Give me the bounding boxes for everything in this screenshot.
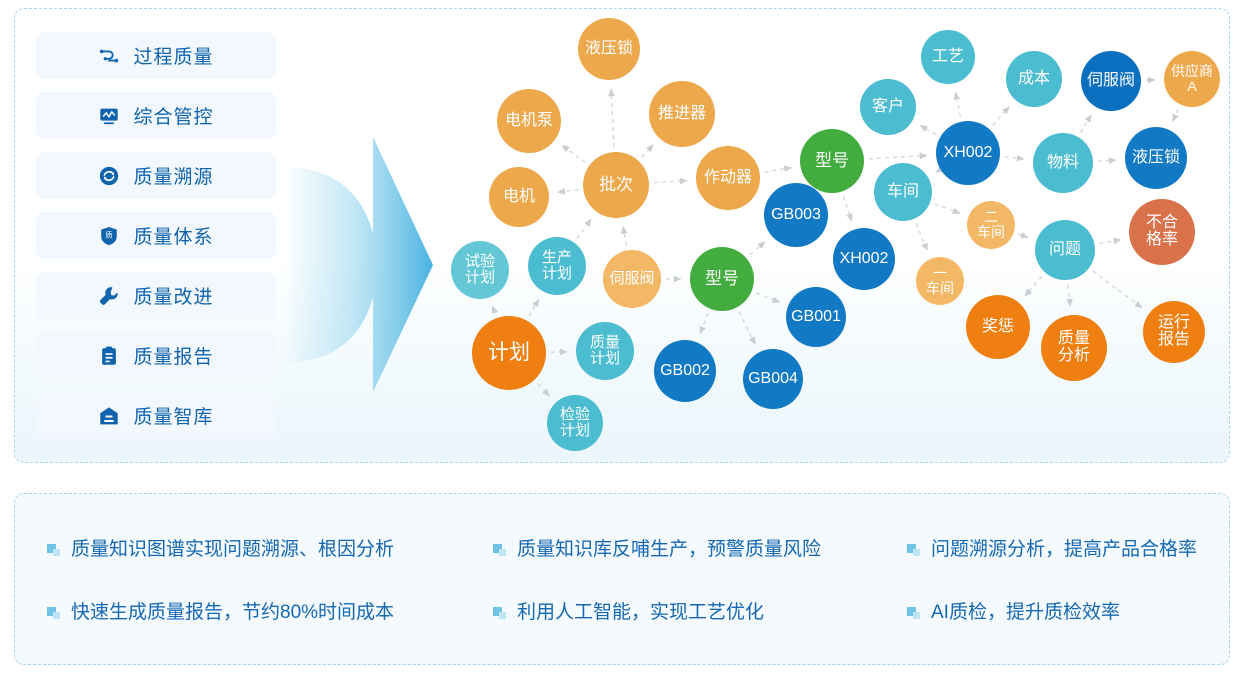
knowledge-graph-page: 过程质量 综合管控 <box>0 0 1246 678</box>
graph-edge <box>935 204 960 213</box>
sidebar-item-label: 综合管控 <box>133 102 213 129</box>
highlight-item: 问题溯源分析，提高产品合格率 <box>907 534 1229 561</box>
graph-node-label: 客户 <box>870 99 906 116</box>
highlights-panel: 质量知识图谱实现问题溯源、根因分析 质量知识库反哺生产，预警质量风险 问题溯源分… <box>14 493 1230 665</box>
graph-edge <box>538 384 550 397</box>
graph-node[interactable]: 工艺 <box>921 30 975 84</box>
graph-node-label: 供应商A <box>1169 64 1215 94</box>
graph-edge <box>765 168 792 172</box>
highlight-item: AI质检，提升质检效率 <box>907 597 1229 624</box>
graph-node[interactable]: 运行报告 <box>1143 301 1205 363</box>
graph-node-label: 型号 <box>813 152 851 170</box>
graph-node-label: 质量计划 <box>588 335 622 367</box>
highlight-item: 快速生成质量报告，节约80%时间成本 <box>47 597 493 624</box>
highlight-text: 利用人工智能，实现工艺优化 <box>517 597 764 624</box>
graph-panel: 过程质量 综合管控 <box>14 8 1230 463</box>
graph-node-label: 质量分析 <box>1056 331 1092 365</box>
graph-node[interactable]: 问题 <box>1035 220 1095 280</box>
graph-node-label: 作动器 <box>702 170 754 187</box>
graph-edge <box>955 92 960 117</box>
graph-node-label: 检验计划 <box>558 407 592 439</box>
graph-edge <box>920 125 936 134</box>
graph-node-label: 一车间 <box>924 266 956 296</box>
graph-edge <box>739 312 755 344</box>
graph-node-label: 成本 <box>1016 71 1052 88</box>
graph-node[interactable]: 质量分析 <box>1041 315 1107 381</box>
svg-text:质: 质 <box>106 230 113 239</box>
refresh-circle-icon <box>98 165 120 187</box>
graph-node[interactable]: 型号 <box>690 247 754 311</box>
graph-node-label: 奖惩 <box>980 319 1016 336</box>
graph-node[interactable]: 批次 <box>583 152 649 218</box>
highlight-text: 质量知识图谱实现问题溯源、根因分析 <box>71 534 394 561</box>
bullet-square-icon <box>47 607 60 620</box>
graph-node[interactable]: 计划 <box>472 316 546 390</box>
graph-node[interactable]: 液压锁 <box>578 18 640 80</box>
sidebar-item-label: 质量改进 <box>133 282 213 309</box>
graph-node-label: GB001 <box>789 309 843 326</box>
sidebar-item-quality-think-tank[interactable]: 质量智库 <box>36 392 276 439</box>
graph-node[interactable]: 不合格率 <box>1129 199 1195 265</box>
graph-node-label: 试验计划 <box>463 254 497 286</box>
bullet-square-icon <box>493 544 506 557</box>
graph-node-label: 物料 <box>1045 155 1081 172</box>
graph-edge <box>577 219 591 239</box>
graph-node-label: GB002 <box>658 363 712 380</box>
bullet-square-icon <box>907 544 920 557</box>
graph-edge <box>611 89 614 147</box>
module-sidebar: 过程质量 综合管控 <box>36 32 276 439</box>
highlight-item: 质量知识库反哺生产，预警质量风险 <box>493 534 907 561</box>
graph-node[interactable]: GB002 <box>654 340 716 402</box>
graph-node[interactable]: 二车间 <box>967 201 1015 249</box>
graph-edge <box>916 223 927 250</box>
highlight-text: 快速生成质量报告，节约80%时间成本 <box>71 597 394 624</box>
graph-node-label: 伺服阀 <box>1085 73 1137 90</box>
graph-node[interactable]: 电机 <box>489 167 549 227</box>
graph-edge <box>1098 160 1116 161</box>
graph-node[interactable]: 成本 <box>1006 51 1062 107</box>
graph-node-label: 型号 <box>703 270 741 288</box>
sidebar-item-label: 过程质量 <box>133 42 213 69</box>
graph-edge <box>843 196 851 221</box>
graph-edge <box>1005 157 1024 159</box>
graph-node[interactable]: XH002 <box>936 121 1000 185</box>
graph-edge <box>558 190 579 193</box>
graph-node-label: GB004 <box>746 371 800 388</box>
graph-edge <box>1068 285 1070 306</box>
highlights-grid: 质量知识图谱实现问题溯源、根因分析 质量知识库反哺生产，预警质量风险 问题溯源分… <box>15 494 1229 664</box>
graph-edge <box>1093 271 1142 308</box>
bullet-square-icon <box>493 607 506 620</box>
graph-edge <box>1173 109 1179 122</box>
graph-node-label: 电机泵 <box>503 113 555 130</box>
graph-node-label: 电机 <box>501 189 537 206</box>
graph-edge <box>562 145 585 162</box>
graph-edge <box>654 181 687 183</box>
highlight-item: 利用人工智能，实现工艺优化 <box>493 597 907 624</box>
graph-node[interactable]: 奖惩 <box>966 295 1030 359</box>
graph-node[interactable]: 伺服阀 <box>603 250 661 308</box>
graph-node[interactable]: 液压锁 <box>1125 127 1187 189</box>
graph-node[interactable]: 车间 <box>874 163 932 221</box>
sidebar-item-quality-report[interactable]: 质量报告 <box>36 332 276 379</box>
highlight-text: 问题溯源分析，提高产品合格率 <box>931 534 1197 561</box>
graph-node[interactable]: 作动器 <box>696 146 760 210</box>
highlight-text: 质量知识库反哺生产，预警质量风险 <box>517 534 821 561</box>
graph-node[interactable]: 电机泵 <box>497 89 561 153</box>
graph-node[interactable]: 生产计划 <box>528 237 586 295</box>
graph-node-label: 生产计划 <box>540 250 574 282</box>
graph-node-label: 工艺 <box>930 49 966 66</box>
sidebar-item-process-quality[interactable]: 过程质量 <box>36 32 276 79</box>
graph-edge <box>642 145 654 157</box>
highlight-item: 质量知识图谱实现问题溯源、根因分析 <box>47 534 493 561</box>
graph-node[interactable]: 检验计划 <box>547 395 603 451</box>
bullet-square-icon <box>47 544 60 557</box>
clipboard-icon <box>98 345 120 367</box>
graph-edge <box>993 107 1010 126</box>
graph-edge <box>493 306 496 313</box>
highlight-text: AI质检，提升质检效率 <box>931 597 1120 624</box>
shuffle-icon <box>98 45 120 67</box>
graph-node-label: 不合格率 <box>1144 215 1180 249</box>
graph-edge <box>529 299 538 316</box>
sidebar-item-label: 质量报告 <box>133 342 213 369</box>
graph-node-label: GB003 <box>769 207 823 224</box>
sidebar-item-label: 质量溯源 <box>133 162 213 189</box>
graph-node-label: 计划 <box>486 342 532 364</box>
bullet-square-icon <box>907 607 920 620</box>
graph-node[interactable]: 客户 <box>860 79 916 135</box>
graph-node-label: 车间 <box>885 184 921 201</box>
graph-edge <box>750 242 765 255</box>
graph-node[interactable]: 供应商A <box>1164 51 1220 107</box>
graph-node[interactable]: 伺服阀 <box>1081 51 1141 111</box>
graph-node[interactable]: GB003 <box>764 183 828 247</box>
graph-node[interactable]: 推进器 <box>649 81 715 147</box>
graph-node[interactable]: GB001 <box>786 287 846 347</box>
graph-node[interactable]: 质量计划 <box>576 322 634 380</box>
sidebar-item-quality-trace[interactable]: 质量溯源 <box>36 152 276 199</box>
graph-edge <box>1081 115 1092 133</box>
graph-node[interactable]: 型号 <box>800 129 864 193</box>
graph-node-label: XH002 <box>838 251 891 268</box>
graph-node-label: 二车间 <box>975 210 1007 240</box>
sidebar-item-integrated-control[interactable]: 综合管控 <box>36 92 276 139</box>
shield-quality-icon: 质 <box>98 225 120 247</box>
graph-edge <box>1018 234 1028 237</box>
graph-edge <box>1099 240 1120 244</box>
sidebar-item-label: 质量体系 <box>133 222 213 249</box>
graph-node-label: 运行报告 <box>1156 315 1192 349</box>
graph-node[interactable]: 一车间 <box>916 257 964 305</box>
graph-node-label: 液压锁 <box>1130 150 1182 167</box>
monitor-chart-icon <box>98 105 120 127</box>
graph-node-label: 批次 <box>597 176 635 194</box>
graph-node-label: 伺服阀 <box>607 271 656 287</box>
bank-home-icon <box>98 405 120 427</box>
wrench-icon <box>98 285 120 307</box>
graph-edge <box>756 293 780 303</box>
graph-node-label: 推进器 <box>656 106 708 123</box>
graph-node[interactable]: XH002 <box>833 228 895 290</box>
graph-node-label: 液压锁 <box>583 41 635 58</box>
graph-node[interactable]: GB004 <box>743 349 803 409</box>
graph-node[interactable]: 物料 <box>1033 133 1093 193</box>
graph-edge <box>700 313 708 334</box>
graph-node-label: XH002 <box>942 145 995 162</box>
graph-node[interactable]: 试验计划 <box>451 241 509 299</box>
graph-node-label: 问题 <box>1047 242 1083 259</box>
sidebar-item-quality-system[interactable]: 质 质量体系 <box>36 212 276 259</box>
graph-edge <box>623 226 626 245</box>
sidebar-item-label: 质量智库 <box>133 402 213 429</box>
graph-edge <box>869 155 927 158</box>
knowledge-graph: 液压锁电机泵推进器批次电机作动器试验计划生产计划伺服阀型号型号GB003计划质量… <box>277 9 1230 463</box>
sidebar-item-quality-improvement[interactable]: 质量改进 <box>36 272 276 319</box>
graph-edge <box>1025 276 1042 296</box>
